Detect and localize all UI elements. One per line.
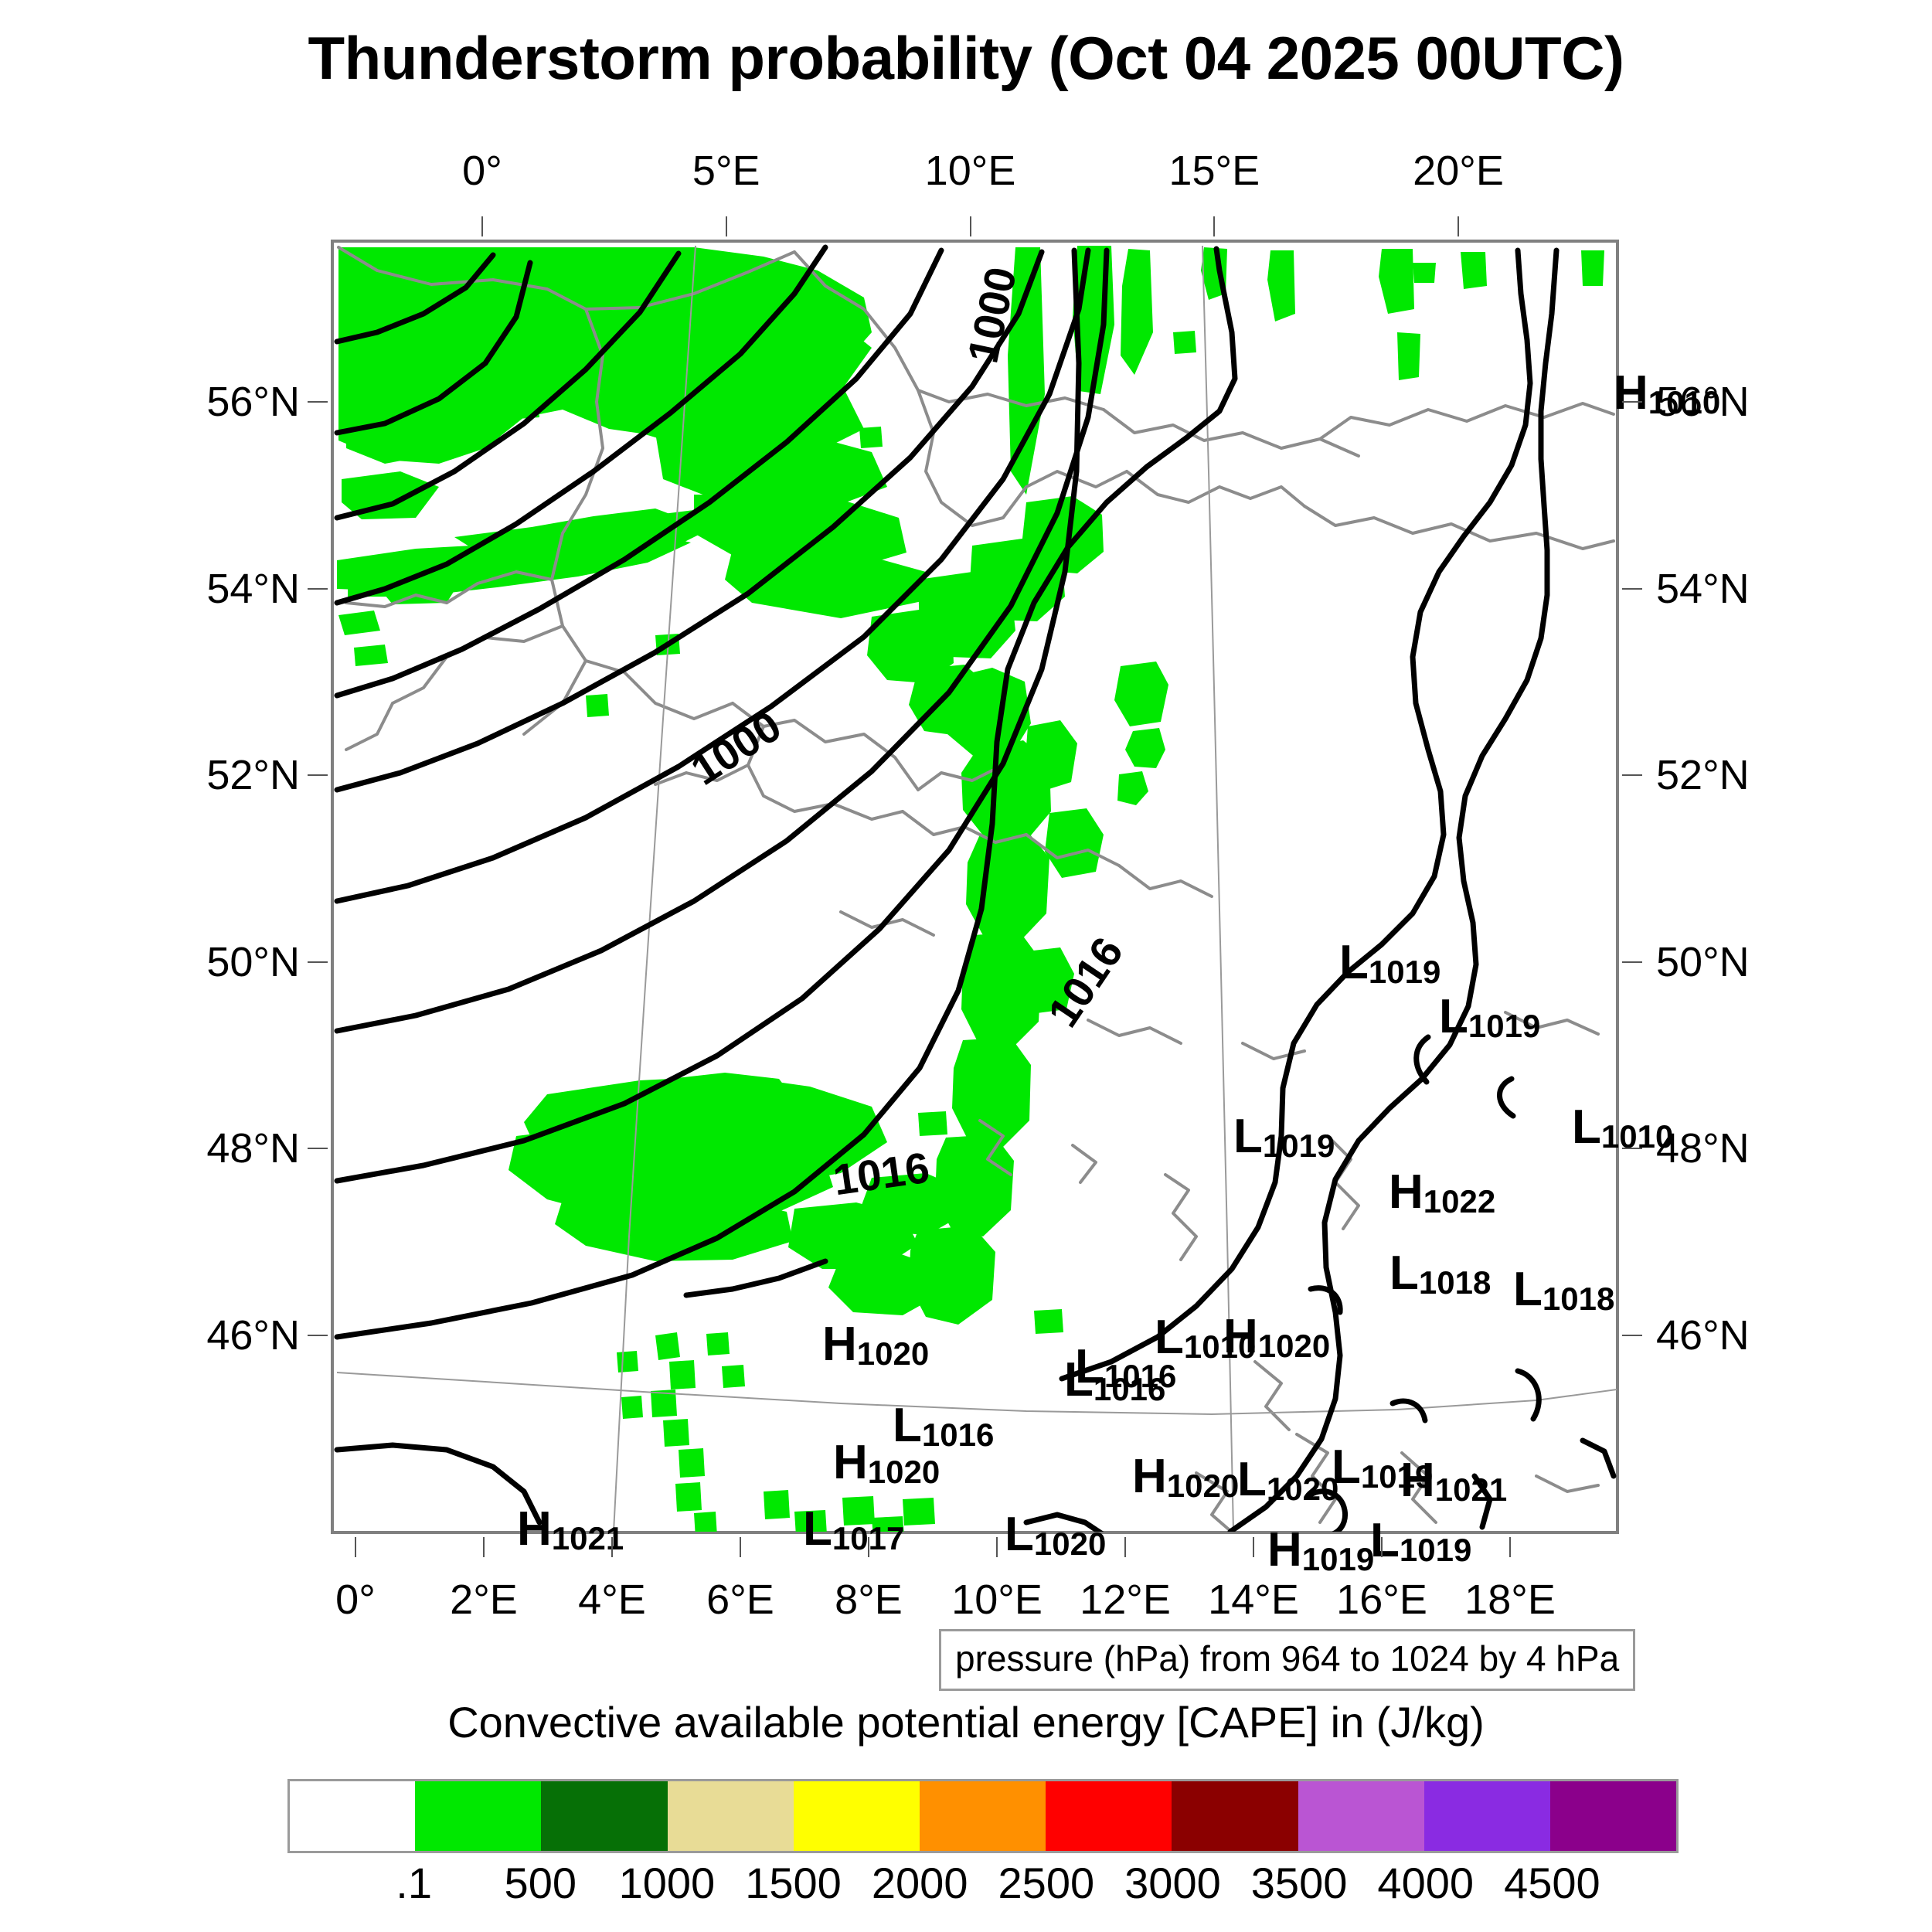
colorbar-tick-9: 4500 (1504, 1858, 1600, 1908)
pressure-center-high-13: H1020 (833, 1439, 940, 1488)
pressure-center-kind: L (1389, 1247, 1419, 1300)
tick-bottom-3 (740, 1537, 741, 1557)
tick-right-5 (1622, 1335, 1642, 1336)
pressure-center-low-2: L1019 (1233, 1113, 1335, 1162)
axis-label-top-3: 15°E (1168, 147, 1260, 195)
pressure-center-value: 1020 (1034, 1526, 1106, 1562)
axis-label-bottom-1: 2°E (450, 1576, 518, 1624)
tick-right-2 (1622, 774, 1642, 776)
pressure-center-value: 1020 (1258, 1328, 1330, 1364)
pressure-center-kind: H (1267, 1523, 1302, 1577)
pressure-center-value: 1022 (1423, 1183, 1495, 1219)
axis-label-right-5: 46°N (1656, 1311, 1857, 1359)
tick-left-2 (308, 774, 328, 776)
map-canvas[interactable] (331, 240, 1619, 1534)
pressure-center-value: 1019 (1369, 954, 1440, 990)
pressure-center-value: 1019 (1400, 1532, 1471, 1568)
axis-label-top-4: 20°E (1413, 147, 1504, 195)
axis-label-bottom-8: 16°E (1336, 1576, 1427, 1624)
colorbar-cell-9[interactable] (1424, 1781, 1550, 1851)
pressure-center-value: 1019 (1263, 1128, 1335, 1164)
pressure-center-low-1: L1019 (1439, 993, 1540, 1043)
colorbar-tick-6: 3000 (1124, 1858, 1221, 1908)
colorbar-cell-2[interactable] (541, 1781, 667, 1851)
colorbar-tick-3: 1500 (745, 1858, 842, 1908)
axis-label-bottom-5: 10°E (951, 1576, 1043, 1624)
pressure-center-value: 1010 (1184, 1328, 1256, 1365)
page-title: Thunderstorm probability (Oct 04 2025 00… (0, 23, 1932, 94)
tick-left-0 (308, 401, 328, 403)
colorbar-cell-7[interactable] (1172, 1781, 1298, 1851)
pressure-center-value: 1018 (1543, 1281, 1614, 1317)
pressure-center-low-5: L1018 (1389, 1250, 1491, 1299)
colorbar-cell-0[interactable] (290, 1781, 415, 1851)
pressure-legend-box: pressure (hPa) from 964 to 1024 by 4 hPa (939, 1629, 1635, 1691)
pressure-center-kind: H (1132, 1450, 1167, 1503)
pressure-center-value: 1020 (1167, 1468, 1239, 1504)
tick-bottom-6 (1124, 1537, 1126, 1557)
tick-right-3 (1622, 961, 1642, 963)
pressure-center-kind: L (803, 1502, 832, 1556)
colorbar-cell-5[interactable] (920, 1781, 1046, 1851)
tick-right-0 (1622, 401, 1642, 403)
tick-top-1 (726, 216, 727, 236)
tick-bottom-4 (868, 1537, 869, 1557)
pressure-center-value: 1020 (868, 1454, 940, 1490)
axis-label-top-0: 0° (462, 147, 502, 195)
colorbar-tick-0: .1 (396, 1858, 432, 1908)
pressure-center-high-4: H1022 (1389, 1168, 1495, 1218)
tick-left-4 (308, 1148, 328, 1149)
axis-label-top-1: 5°E (692, 147, 760, 195)
axis-label-bottom-3: 6°E (706, 1576, 774, 1624)
pressure-center-kind: H (1389, 1165, 1423, 1219)
pressure-center-value: 1021 (1435, 1471, 1507, 1508)
axis-label-right-4: 48°N (1656, 1124, 1857, 1172)
tick-bottom-8 (1381, 1537, 1383, 1557)
pressure-center-kind: H (822, 1318, 857, 1371)
pressure-center-high-17: H1021 (1400, 1457, 1507, 1506)
cape-shading-layer (337, 246, 1604, 1534)
tick-right-1 (1622, 588, 1642, 590)
pressure-center-value: 1019 (1302, 1541, 1374, 1577)
pressure-center-value: 1020 (1267, 1471, 1338, 1507)
pressure-center-kind: L (1439, 990, 1468, 1043)
colorbar-cell-8[interactable] (1298, 1781, 1424, 1851)
colorbar-tick-5: 2500 (998, 1858, 1095, 1908)
pressure-center-value: 1018 (1419, 1264, 1491, 1301)
map-panel[interactable]: 1000 1000 1016 1016 L1019L1019L1019L1010… (331, 240, 1619, 1534)
tick-bottom-7 (1253, 1537, 1254, 1557)
tick-bottom-0 (355, 1537, 356, 1557)
pressure-center-kind: L (1005, 1508, 1034, 1561)
axis-label-left-3: 50°N (107, 938, 300, 986)
axis-label-bottom-6: 12°E (1080, 1576, 1171, 1624)
tick-bottom-2 (611, 1537, 613, 1557)
axis-label-top-2: 10°E (925, 147, 1016, 195)
pressure-center-kind: L (1233, 1110, 1263, 1163)
tick-bottom-5 (996, 1537, 998, 1557)
tick-top-3 (1213, 216, 1215, 236)
tick-right-4 (1622, 1148, 1642, 1149)
pressure-center-kind: L (1339, 936, 1369, 989)
pressure-center-kind: H (1614, 366, 1648, 420)
pressure-center-value: 1016 (1094, 1371, 1165, 1407)
axis-label-left-1: 54°N (107, 565, 300, 613)
tick-bottom-9 (1509, 1537, 1511, 1557)
colorbar-cell-3[interactable] (668, 1781, 794, 1851)
axis-label-left-2: 52°N (107, 751, 300, 799)
cape-caption: Convective available potential energy [C… (0, 1697, 1932, 1747)
tick-left-3 (308, 961, 328, 963)
pressure-center-high-9: H1020 (822, 1321, 929, 1370)
tick-top-0 (481, 216, 483, 236)
axis-label-left-0: 56°N (107, 378, 300, 426)
colorbar-tick-2: 1000 (619, 1858, 716, 1908)
pressure-center-low-0: L1019 (1339, 939, 1440, 988)
colorbar-tick-8: 4000 (1377, 1858, 1474, 1908)
tick-top-2 (970, 216, 971, 236)
axis-label-left-4: 48°N (107, 1124, 300, 1172)
pressure-center-kind: H (517, 1502, 552, 1556)
colorbar-cell-10[interactable] (1550, 1781, 1676, 1851)
colorbar-tick-7: 3500 (1251, 1858, 1348, 1908)
pressure-center-kind: L (1572, 1100, 1601, 1154)
pressure-center-high-18: H1021 (517, 1505, 624, 1555)
axis-label-right-3: 50°N (1656, 938, 1857, 986)
colorbar-cell-4[interactable] (794, 1781, 920, 1851)
pressure-center-low-21: L1019 (1370, 1517, 1471, 1566)
axis-label-bottom-0: 0° (335, 1576, 376, 1624)
pressure-center-kind: L (1370, 1514, 1400, 1567)
axis-label-bottom-2: 4°E (578, 1576, 646, 1624)
pressure-center-kind: L (1513, 1263, 1543, 1316)
pressure-center-value: 1020 (857, 1335, 929, 1372)
pressure-center-high-22: H1019 (1267, 1526, 1374, 1576)
pressure-center-low-6: L1018 (1513, 1266, 1614, 1315)
axis-label-bottom-9: 18°E (1464, 1576, 1556, 1624)
tick-left-1 (308, 588, 328, 590)
colorbar-tick-1: 500 (505, 1858, 577, 1908)
pressure-center-kind: L (1237, 1453, 1267, 1506)
axis-label-left-5: 46°N (107, 1311, 300, 1359)
pressure-center-low-15: L1020 (1237, 1456, 1338, 1505)
cape-colorbar[interactable] (287, 1779, 1679, 1853)
pressure-center-low-20: L1020 (1005, 1511, 1106, 1560)
tick-left-5 (308, 1335, 328, 1336)
axis-label-bottom-7: 14°E (1208, 1576, 1299, 1624)
pressure-center-low-19: L1017 (803, 1505, 904, 1555)
pressure-center-kind: L (1332, 1440, 1361, 1494)
tick-bottom-1 (483, 1537, 485, 1557)
axis-label-right-1: 54°N (1656, 565, 1857, 613)
pressure-center-kind: H (1400, 1454, 1435, 1507)
pressure-center-kind: H (833, 1436, 868, 1489)
pressure-center-low-11: L1016 (1064, 1356, 1165, 1406)
pressure-center-high-14: H1020 (1132, 1453, 1239, 1502)
pressure-center-value: 1021 (552, 1520, 624, 1556)
axis-label-right-2: 52°N (1656, 751, 1857, 799)
pressure-center-value: 1019 (1468, 1008, 1540, 1044)
axis-label-bottom-4: 8°E (835, 1576, 903, 1624)
tick-top-4 (1458, 216, 1459, 236)
colorbar-cell-1[interactable] (415, 1781, 541, 1851)
colorbar-cell-6[interactable] (1046, 1781, 1172, 1851)
colorbar-tick-4: 2000 (872, 1858, 968, 1908)
axis-label-right-0: 56°N (1656, 378, 1857, 426)
pressure-center-kind: L (1064, 1353, 1094, 1406)
cape-colorbar-labels: .150010001500200025003000350040004500 (287, 1858, 1679, 1920)
